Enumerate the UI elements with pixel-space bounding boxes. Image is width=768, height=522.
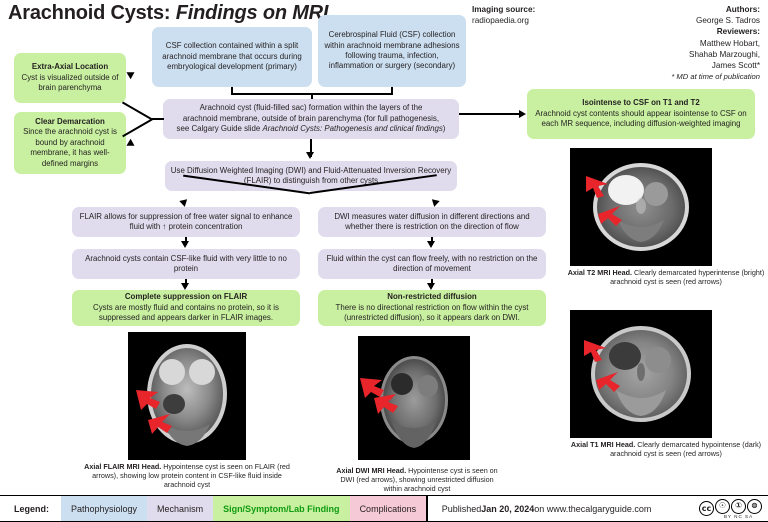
- complete-suppression-title: Complete suppression on FLAIR: [125, 292, 247, 301]
- pathogenesis-line3-lead: see Calgary Guide slide: [177, 124, 263, 133]
- legend-bar: Legend: Pathophysiology Mechanism Sign/S…: [0, 495, 768, 522]
- node-csf-like-fluid: Arachnoid cysts contain CSF-like fluid w…: [72, 249, 300, 279]
- nonrestricted-title: Non-restricted diffusion: [387, 292, 476, 301]
- mri-flair-arrows: [128, 332, 246, 460]
- legend-item-complications[interactable]: Complications: [350, 496, 427, 521]
- complete-suppression-body: Cysts are mostly fluid and contains no p…: [93, 303, 279, 322]
- diagram-canvas: Arachnoid Cysts: Findings on MRI Imaging…: [0, 0, 768, 522]
- creative-commons-badge[interactable]: cc ☉ ① ⊜ BY NC SA: [699, 499, 762, 519]
- pathogenesis-slide-ref: Arachnoid Cysts: Pathogenesis and clinic…: [263, 124, 443, 133]
- extra-axial-title: Extra-Axial Location: [32, 62, 108, 71]
- isointense-body: Arachnoid cyst contents should appear is…: [535, 109, 746, 128]
- publication-info: Published Jan 20, 2024 on www.thecalgary…: [428, 496, 662, 521]
- arrow-dwi-chain-1: [427, 241, 435, 248]
- nonrestricted-body: There is no directional restriction on f…: [336, 303, 529, 322]
- caption-t2-rest: Clearly demarcated hyperintense (bright)…: [610, 268, 764, 286]
- extra-axial-body: Cyst is visualized outside of brain pare…: [22, 73, 119, 92]
- connector-to-clear-demarcation: [122, 118, 153, 137]
- isointense-title: Isointense to CSF on T1 and T2: [582, 98, 700, 107]
- reviewer-3: James Scott*: [590, 60, 760, 71]
- connector-left-stem: [152, 118, 164, 120]
- node-isointense: Isointense to CSF on T1 and T2 Arachnoid…: [527, 89, 755, 139]
- mri-image-t2: [570, 148, 712, 266]
- node-fluid-flows-freely: Fluid within the cyst can flow freely, w…: [318, 249, 546, 279]
- node-dwi-measures-text: DWI measures water diffusion in differen…: [323, 212, 541, 233]
- node-secondary-etiology-text: Cerebrospinal Fluid (CSF) collection wit…: [323, 30, 461, 72]
- caption-t1: Axial T1 MRI Head. Clearly demarcated hy…: [566, 440, 766, 458]
- clear-demarcation-body: Since the arachnoid cyst is bound by ara…: [23, 127, 117, 167]
- cc-nc-icon: ①: [731, 499, 746, 514]
- pathogenesis-line3-end: ): [443, 124, 446, 133]
- caption-t2: Axial T2 MRI Head. Clearly demarcated hy…: [566, 268, 766, 286]
- arrow-flair-chain-2: [181, 283, 189, 290]
- node-flair-suppression-text: FLAIR allows for suppression of free wat…: [77, 212, 295, 233]
- node-primary-etiology-text: CSF collection contained within a split …: [157, 41, 307, 72]
- connector-pathogenesis-right: [459, 113, 521, 115]
- credits-footnote: * MD at time of publication: [590, 71, 760, 82]
- legend-item-pathophysiology[interactable]: Pathophysiology: [61, 496, 147, 521]
- node-complete-suppression: Complete suppression on FLAIR Cysts are …: [72, 290, 300, 326]
- reviewers-label: Reviewers:: [590, 26, 760, 37]
- authors-label: Authors:: [590, 4, 760, 15]
- published-suffix: on www.thecalgaryguide.com: [534, 504, 651, 514]
- pathogenesis-line2: arachnoid membrane, outside of brain par…: [168, 114, 454, 124]
- legend-item-pathophysiology-label: Pathophysiology: [71, 504, 137, 514]
- node-dwi-measures: DWI measures water diffusion in differen…: [318, 207, 546, 237]
- node-extra-axial-location: Extra-Axial Location Cyst is visualized …: [14, 53, 126, 103]
- credits: Authors: George S. Tadros Reviewers: Mat…: [590, 4, 760, 82]
- pathogenesis-line3: see Calgary Guide slide Arachnoid Cysts:…: [168, 124, 454, 134]
- legend-label: Legend:: [0, 496, 61, 521]
- mri-t2-arrows: [570, 148, 712, 266]
- mri-image-t1: [570, 310, 712, 438]
- caption-flair-bold: Axial FLAIR MRI Head.: [84, 462, 161, 471]
- node-dwi-flair: Use Diffusion Weighted Imaging (DWI) and…: [165, 161, 457, 191]
- node-csf-like-fluid-text: Arachnoid cysts contain CSF-like fluid w…: [77, 254, 295, 275]
- arrow-to-dwi-flair: [306, 152, 314, 159]
- mri-image-dwi: [358, 336, 470, 460]
- connector-to-extra-axial: [122, 101, 153, 120]
- mri-t1-arrows: [570, 310, 712, 438]
- cc-by-icon: ☉: [715, 499, 730, 514]
- pathogenesis-line1: Arachnoid cyst (fluid-filled sac) format…: [168, 103, 454, 113]
- node-flair-suppression: FLAIR allows for suppression of free wat…: [72, 207, 300, 237]
- arrow-to-isointense: [519, 110, 526, 118]
- legend-item-sign-symptom[interactable]: Sign/Symptom/Lab Finding: [213, 496, 350, 521]
- cc-sa-icon: ⊜: [747, 499, 762, 514]
- clear-demarcation-title: Clear Demarcation: [35, 117, 105, 126]
- node-primary-etiology: CSF collection contained within a split …: [152, 27, 312, 87]
- mri-dwi-arrows: [358, 336, 470, 460]
- cc-sub-label: BY NC SA: [724, 514, 753, 519]
- caption-dwi: Axial DWI MRI Head. Hypointense cyst is …: [334, 466, 500, 494]
- caption-flair: Axial FLAIR MRI Head. Hypointense cyst i…: [82, 462, 292, 490]
- title-main: Arachnoid Cysts:: [8, 2, 170, 24]
- page-title: Arachnoid Cysts: Findings on MRI: [8, 2, 328, 25]
- published-date: Jan 20, 2024: [481, 504, 534, 514]
- caption-dwi-bold: Axial DWI MRI Head.: [336, 466, 406, 475]
- arrow-dwi-chain-2: [427, 283, 435, 290]
- authors-value: George S. Tadros: [590, 15, 760, 26]
- arrow-flair-chain-1: [181, 241, 189, 248]
- node-clear-demarcation: Clear Demarcation Since the arachnoid cy…: [14, 112, 126, 174]
- node-secondary-etiology: Cerebrospinal Fluid (CSF) collection wit…: [318, 15, 466, 87]
- node-dwi-flair-text: Use Diffusion Weighted Imaging (DWI) and…: [170, 166, 452, 187]
- legend-item-mechanism-label: Mechanism: [157, 504, 203, 514]
- node-pathogenesis: Arachnoid cyst (fluid-filled sac) format…: [163, 99, 459, 139]
- mri-image-flair: [128, 332, 246, 460]
- cc-icon: cc: [699, 501, 714, 516]
- caption-t1-bold: Axial T1 MRI Head.: [571, 440, 635, 449]
- node-nonrestricted-diffusion: Non-restricted diffusion There is no dir…: [318, 290, 546, 326]
- legend-item-sign-symptom-label: Sign/Symptom/Lab Finding: [223, 504, 340, 514]
- node-fluid-flows-freely-text: Fluid within the cyst can flow freely, w…: [323, 254, 541, 275]
- published-prefix: Published: [442, 504, 482, 514]
- legend-item-mechanism[interactable]: Mechanism: [147, 496, 213, 521]
- caption-t2-bold: Axial T2 MRI Head.: [568, 268, 632, 277]
- reviewer-2: Shahab Marzoughi,: [590, 49, 760, 60]
- title-sub: Findings on MRI: [176, 2, 329, 24]
- legend-item-complications-label: Complications: [360, 504, 417, 514]
- reviewer-1: Matthew Hobart,: [590, 38, 760, 49]
